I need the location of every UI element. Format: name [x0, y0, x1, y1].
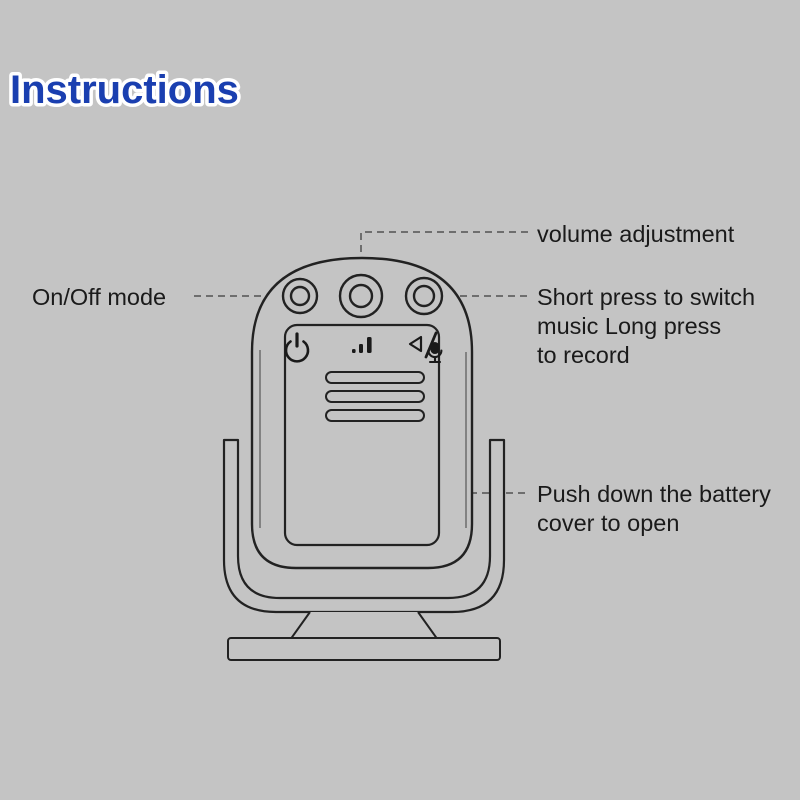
button-middle-center[interactable]	[350, 285, 372, 307]
signal-bar-2	[359, 344, 363, 353]
callout-battery-cover-line-2: cover to open	[537, 510, 679, 536]
callout-battery-cover-line-1: Push down the battery	[537, 481, 771, 507]
button-left[interactable]	[283, 279, 317, 313]
top-button-group	[283, 275, 442, 317]
callout-on-off-mode-line-1: On/Off mode	[32, 284, 166, 310]
base-plate-slab	[228, 638, 500, 660]
page-title: Instructions Instructions	[10, 68, 239, 112]
callout-music-record-line-3: to record	[537, 342, 630, 368]
battery-cover-panel[interactable]	[285, 325, 439, 545]
page-title-text: Instructions	[10, 68, 239, 112]
grille-slot-2	[326, 391, 424, 402]
button-left-center[interactable]	[291, 287, 309, 305]
callout-music-record-line-2: music Long press	[537, 313, 721, 339]
grille-slot-1	[326, 372, 424, 383]
device-instruction-diagram: Instructions Instructions	[0, 0, 800, 800]
button-right-center[interactable]	[414, 286, 434, 306]
microphone-capsule	[432, 343, 439, 353]
base-neck	[290, 612, 438, 640]
signal-bar-1	[352, 349, 356, 353]
device-back-panel	[285, 325, 439, 545]
speaker-grille	[326, 372, 424, 421]
callout-music-record-line-1: Short press to switch	[537, 284, 755, 310]
instructions-diagram-page: Instructions Instructions	[0, 0, 800, 800]
button-right[interactable]	[406, 278, 442, 314]
grille-slot-3	[326, 410, 424, 421]
signal-bar-3	[367, 337, 372, 353]
callout-volume-adjustment-line-1: volume adjustment	[537, 221, 735, 247]
button-middle[interactable]	[340, 275, 382, 317]
